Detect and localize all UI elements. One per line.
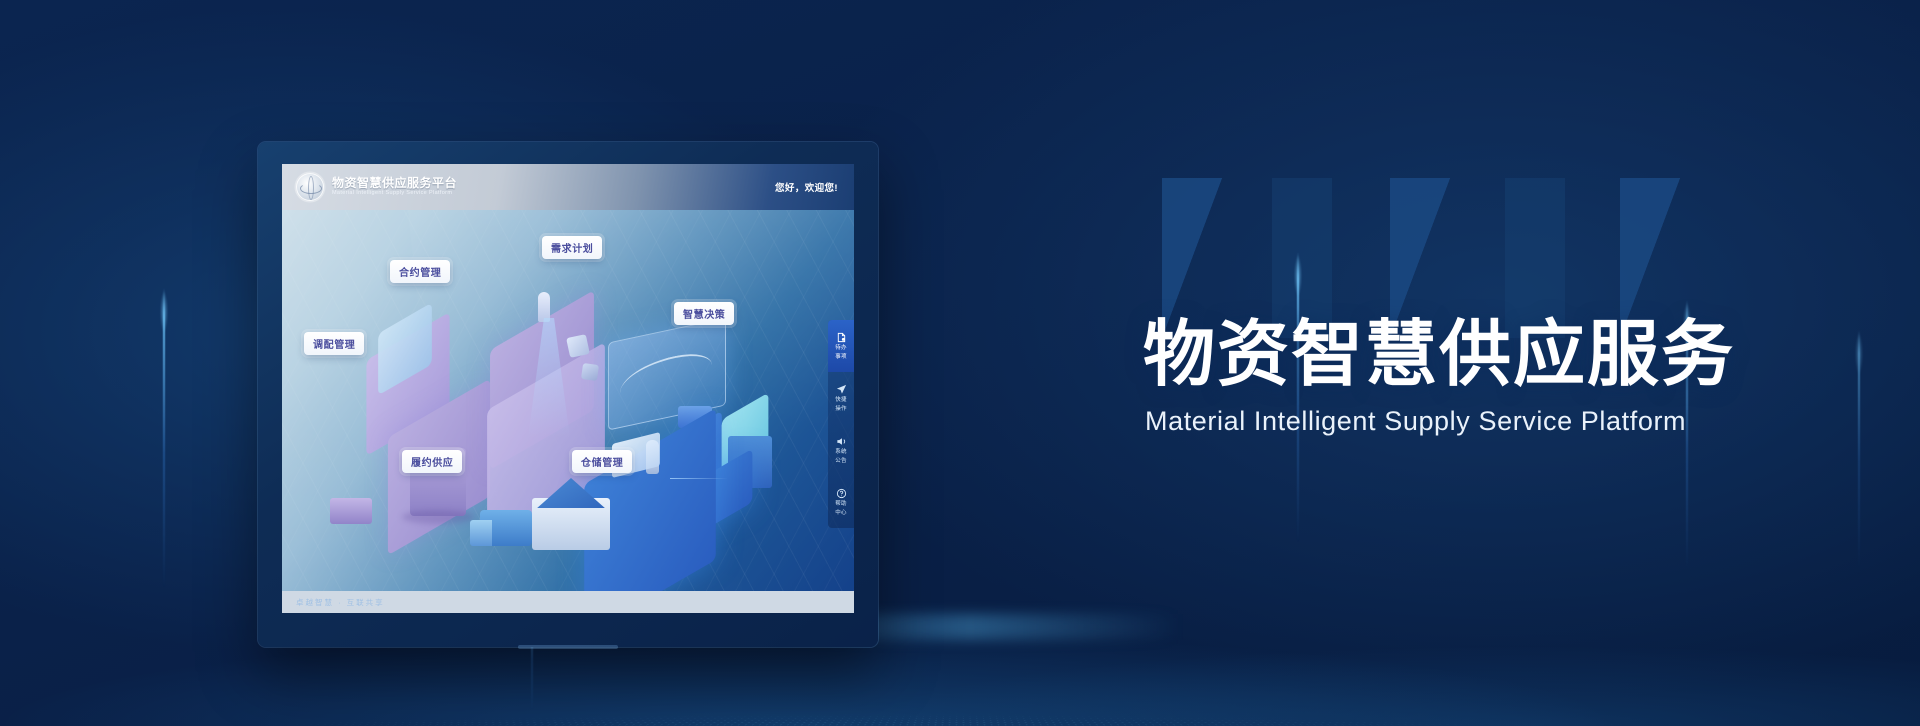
rail-item-help-center-line2: 中心 xyxy=(835,510,846,517)
rail-item-quick-action[interactable]: 快捷 操作 xyxy=(828,372,854,424)
module-label-contract-mgmt[interactable]: 合约管理 xyxy=(390,260,450,283)
app-footer: 卓越智慧 · 互联共享 xyxy=(282,591,854,613)
iso-forklift xyxy=(330,498,372,524)
rail-item-announcement-line1: 系统 xyxy=(835,449,846,456)
globe-emblem-icon xyxy=(296,173,324,201)
hero-headline-cn: 物资智慧供应服务 xyxy=(1143,318,1843,390)
rail-item-todo-line1: 待办 xyxy=(835,345,846,352)
todo-document-icon xyxy=(836,332,847,343)
iso-person-demand xyxy=(538,292,550,322)
hero-banner: 物资智慧供应服务平台 Material Intelligent Supply S… xyxy=(0,0,1920,726)
megaphone-icon xyxy=(836,436,847,447)
light-streak-1 xyxy=(163,288,165,588)
light-streak-5 xyxy=(1858,330,1860,570)
greeting-text: 您好，欢迎您! xyxy=(775,180,838,194)
rail-item-todo[interactable]: 待办 事项 xyxy=(828,320,854,372)
app-brand-en: Material Intelligent Supply Service Plat… xyxy=(332,191,457,197)
app-header: 物资智慧供应服务平台 Material Intelligent Supply S… xyxy=(282,164,854,210)
rail-item-announcement-line2: 公告 xyxy=(835,458,846,465)
iso-tower-allocation-shadow xyxy=(402,510,474,524)
hero-headline-en: Material Intelligent Supply Service Plat… xyxy=(1145,406,1843,437)
quick-access-rail: 待办 事项 快捷 操作 系统 xyxy=(828,320,854,528)
app-screen: 物资智慧供应服务平台 Material Intelligent Supply S… xyxy=(282,164,854,613)
module-label-smart-decision[interactable]: 智慧决策 xyxy=(674,302,734,325)
monitor-frame: 物资智慧供应服务平台 Material Intelligent Supply S… xyxy=(258,142,878,647)
iso-float-cube-1 xyxy=(566,334,590,358)
footer-slogan: 卓越智慧 · 互联共享 xyxy=(296,597,385,608)
rail-item-announcement[interactable]: 系统 公告 xyxy=(828,424,854,476)
rail-item-help-center-line1: 帮助 xyxy=(835,501,846,508)
module-label-warehouse-mgmt[interactable]: 仓储管理 xyxy=(572,450,632,473)
app-brand-cn: 物资智慧供应服务平台 xyxy=(332,177,457,190)
module-label-fulfilment-supply[interactable]: 履约供应 xyxy=(402,450,462,473)
iso-float-cube-2 xyxy=(581,363,599,381)
iso-connector-line xyxy=(670,478,728,479)
rail-item-quick-action-line1: 快捷 xyxy=(835,397,846,404)
question-circle-icon xyxy=(836,488,847,499)
paper-plane-icon xyxy=(836,384,847,395)
app-brand: 物资智慧供应服务平台 Material Intelligent Supply S… xyxy=(296,173,457,201)
rail-item-quick-action-line2: 操作 xyxy=(835,406,846,413)
illustration-canvas: 需求计划 合约管理 调配管理 智慧决策 履约供应 仓储管理 待办 事项 xyxy=(282,210,854,591)
rail-item-help-center[interactable]: 帮助 中心 xyxy=(828,476,854,528)
app-brand-text: 物资智慧供应服务平台 Material Intelligent Supply S… xyxy=(332,177,457,197)
iso-truck-cab xyxy=(470,520,492,546)
hero-headline-block: 物资智慧供应服务 Material Intelligent Supply Ser… xyxy=(1143,318,1843,437)
rail-item-todo-line2: 事项 xyxy=(835,354,846,361)
module-label-demand-plan[interactable]: 需求计划 xyxy=(542,236,602,259)
module-label-allocation-mgmt[interactable]: 调配管理 xyxy=(304,332,364,355)
